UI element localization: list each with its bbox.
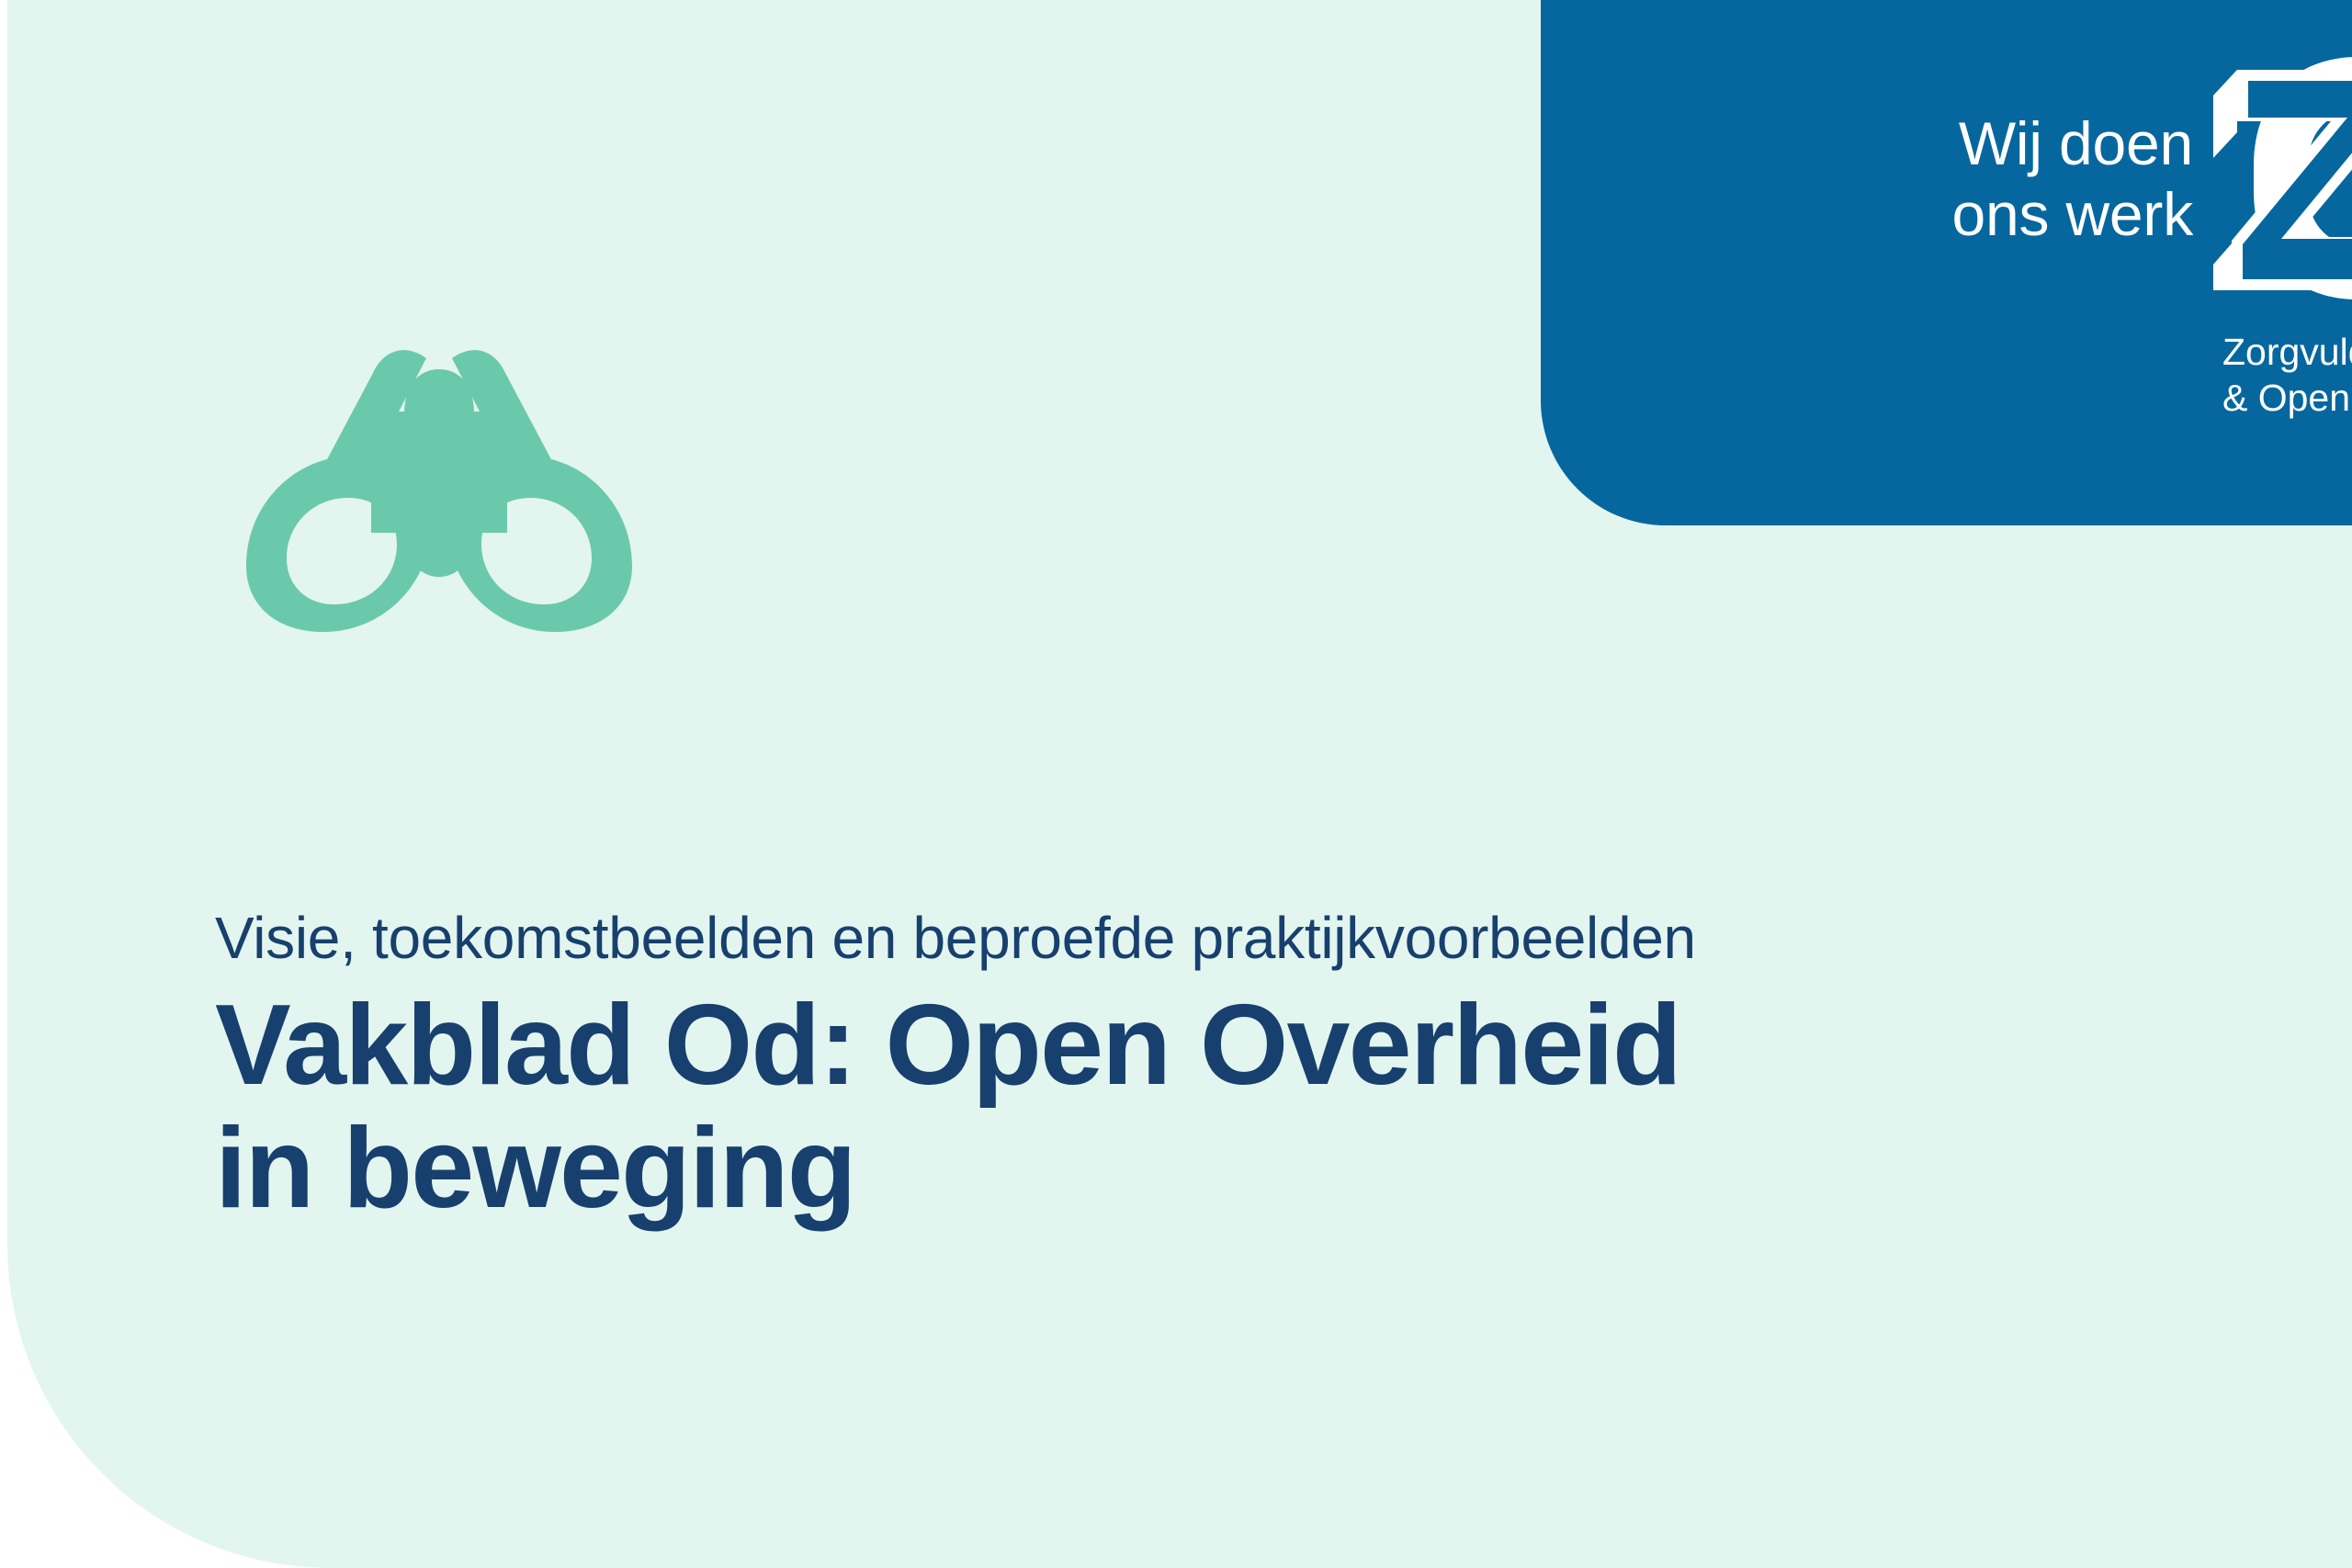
kicker-text: Visie, toekomstbeelden en beproefde prak… [215,906,2144,972]
brand-block-inner: Wij doen ons werk [1541,0,2352,525]
brand-tagline-text: Zorgvuldig & Open [2222,329,2352,421]
brand-block: Wij doen ons werk [1541,0,2352,525]
poster-canvas: Wij doen ons werk [0,0,2352,1568]
binoculars-icon [209,301,669,632]
text-block: Visie, toekomstbeelden en beproefde prak… [215,906,2144,1230]
brand-claim-text: Wij doen ons werk [1614,108,2193,249]
page-title: Vakblad Od: Open Overheid in beweging [215,985,2144,1231]
zo-logo-icon [2200,50,2352,325]
